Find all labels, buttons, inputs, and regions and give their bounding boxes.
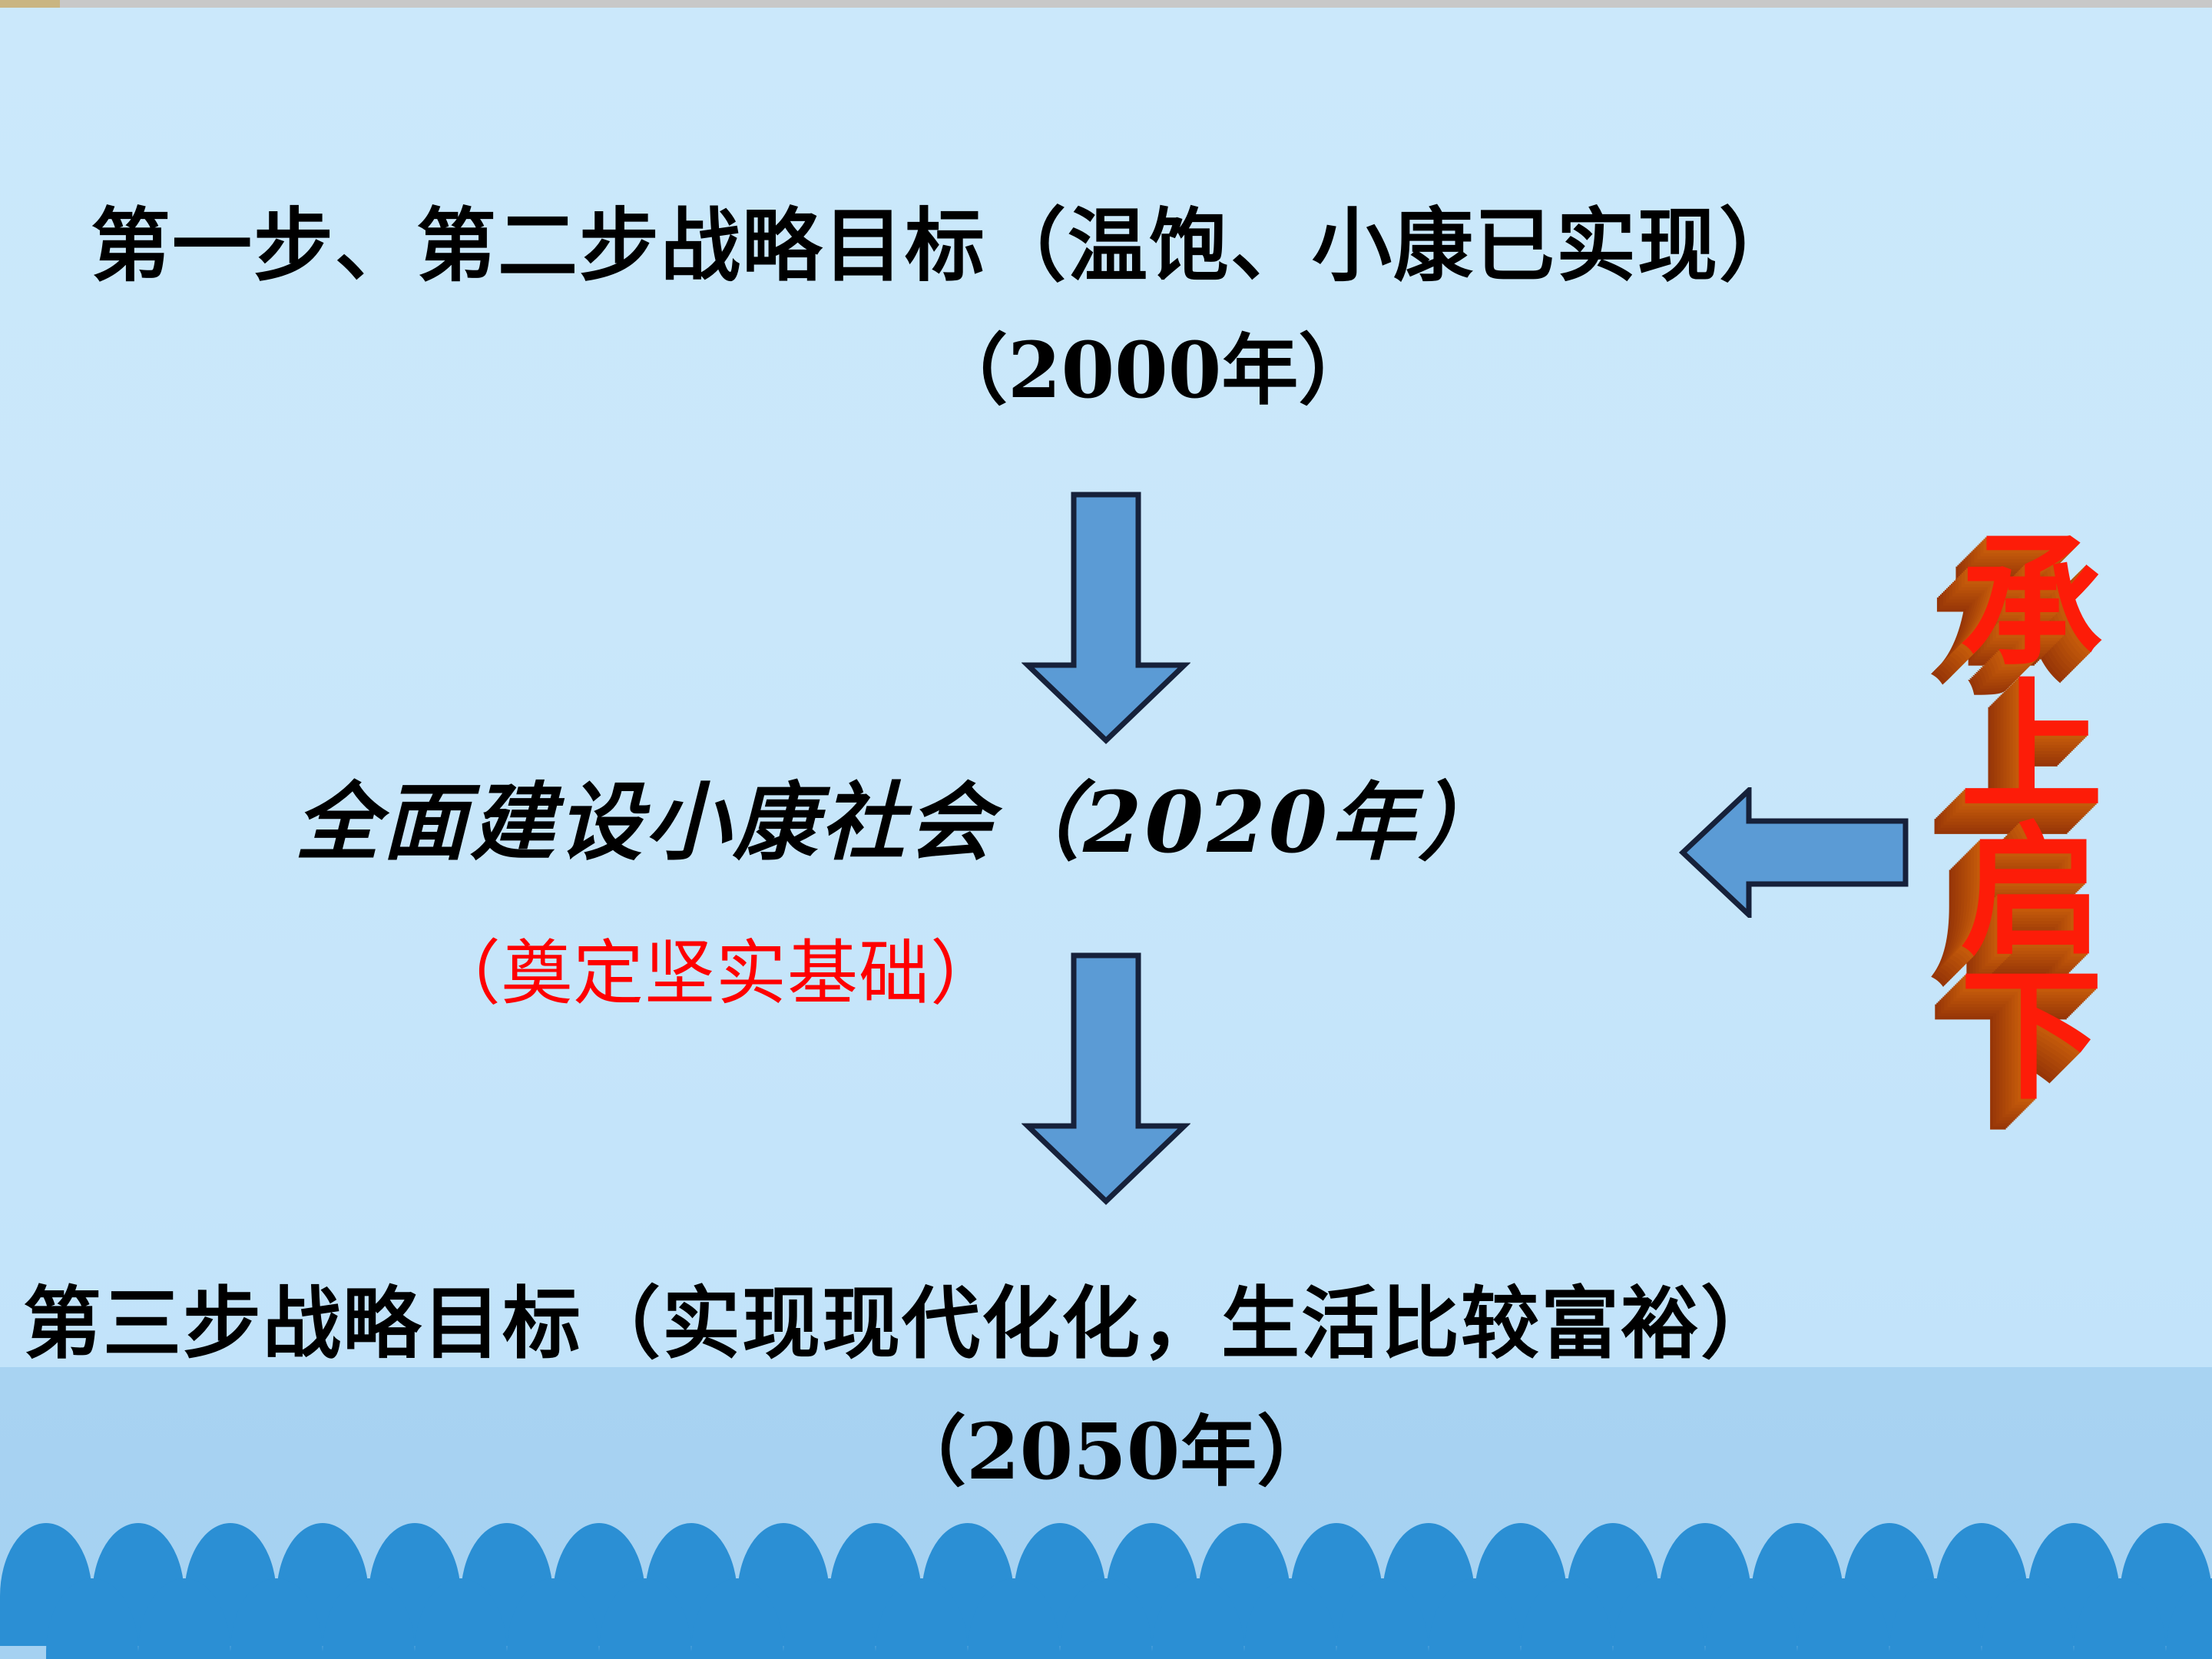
wave-scallop xyxy=(691,1578,783,1659)
wave-scallop xyxy=(1613,1578,1705,1659)
wave-scallop xyxy=(2074,1578,2166,1659)
wave-scallop xyxy=(138,1578,230,1659)
wave-scallop xyxy=(2166,1578,2212,1659)
wave-offset-spacer xyxy=(0,1578,46,1659)
wordart-char-1: 承 xyxy=(1886,530,2177,676)
slide-canvas: 第一步、第二步战略目标（温饱、小康已实现） （2000年） 全面建设小康社会（2… xyxy=(0,0,2212,1659)
title-line-1: 第一步、第二步战略目标（温饱、小康已实现） xyxy=(91,206,1800,286)
wordart-char-3: 启 xyxy=(1886,819,2177,965)
wave-scallop xyxy=(1152,1578,1244,1659)
wave-scallop xyxy=(1889,1578,1982,1659)
arrow-left-icon-from-wordart xyxy=(1678,787,1909,922)
wave-scallop xyxy=(1429,1578,1521,1659)
wave-scallop xyxy=(599,1578,691,1659)
wordart-cheng-shang-qi-xia: 承 上 启 下 xyxy=(1886,530,2177,1114)
wave-scallop xyxy=(1244,1578,1336,1659)
wave-scallop xyxy=(1705,1578,1797,1659)
wave-scallop xyxy=(783,1578,876,1659)
wave-scallop xyxy=(1060,1578,1152,1659)
wave-scallop xyxy=(968,1578,1060,1659)
wave-row-front xyxy=(0,1578,2212,1659)
title-year-2000: （2000年） xyxy=(931,332,1375,409)
wave-scallop xyxy=(46,1578,138,1659)
wave-scallop xyxy=(1521,1578,1613,1659)
wordart-char-4: 下 xyxy=(1886,963,2177,1109)
top-strip xyxy=(0,0,2212,8)
wave-scallop xyxy=(323,1578,415,1659)
arrow-down-icon-to-2050 xyxy=(1022,952,1190,1210)
bottom-line-1: 第三步战略目标（实现现代化化，生活比较富裕） xyxy=(23,1286,1780,1364)
bottom-year-2050: （2050年） xyxy=(889,1413,1333,1490)
wordart-char-2: 上 xyxy=(1886,674,2177,820)
wave-scallop xyxy=(415,1578,507,1659)
middle-goal-line: 全面建设小康社会（2020年） xyxy=(295,780,1505,865)
wave-scallop xyxy=(876,1578,968,1659)
wave-scallop xyxy=(507,1578,599,1659)
wave-scallop xyxy=(1797,1578,1889,1659)
wave-scallop xyxy=(1982,1578,2074,1659)
top-left-accent-strip xyxy=(0,0,60,8)
arrow-down-icon-to-2020 xyxy=(1022,492,1190,749)
wave-scallop xyxy=(230,1578,323,1659)
middle-red-note: （奠定坚实基础） xyxy=(430,939,1002,1009)
wave-scallop xyxy=(1336,1578,1429,1659)
